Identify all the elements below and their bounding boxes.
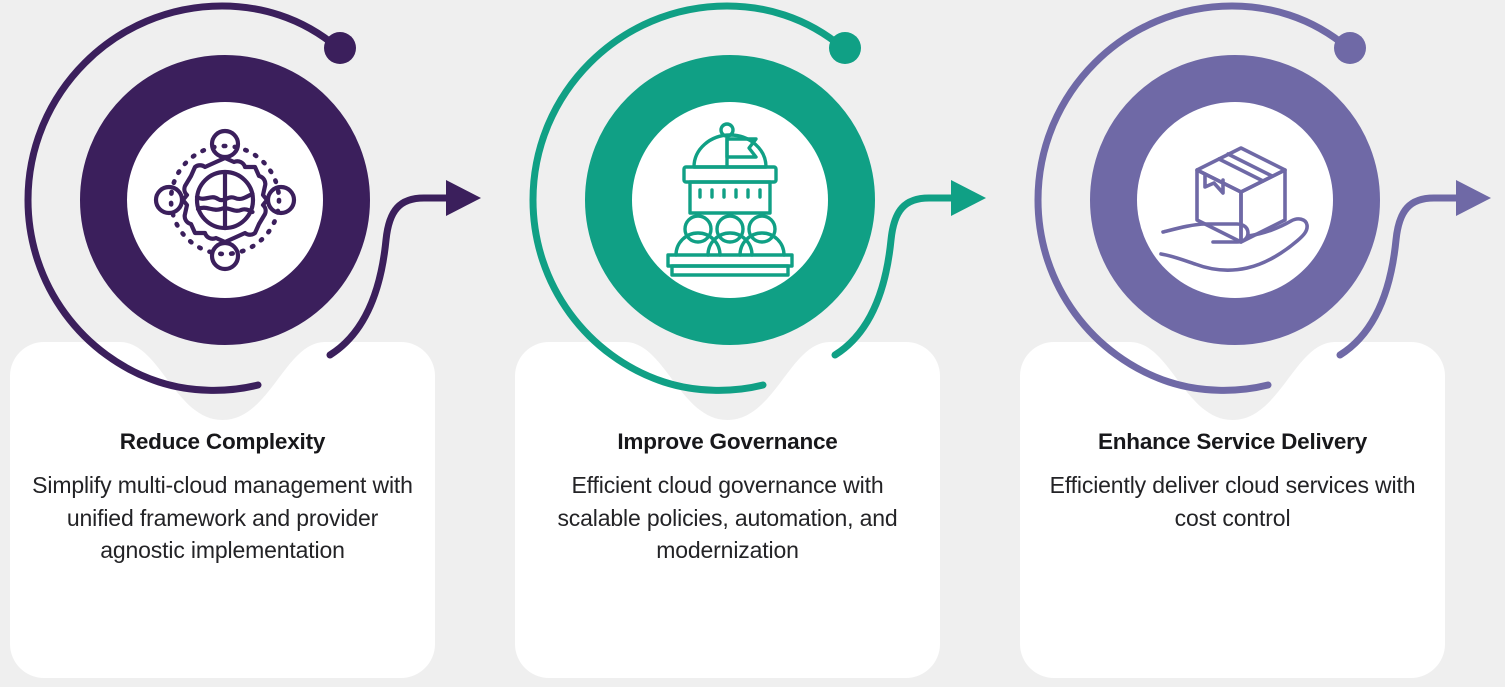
infographic-column-reduce-complexity: Reduce Complexity Simplify multi-cloud m… bbox=[0, 0, 505, 687]
icon-graphic-group bbox=[505, 0, 1010, 400]
card-content: Improve Governance Efficient cloud gover… bbox=[515, 342, 940, 678]
orbit-dot bbox=[829, 32, 861, 64]
icon-disc bbox=[632, 102, 828, 298]
card-description: Simplify multi-cloud management with uni… bbox=[24, 455, 421, 567]
arrow-head bbox=[446, 180, 481, 216]
government-building-people-icon bbox=[668, 124, 792, 275]
accent-ring bbox=[1114, 79, 1356, 321]
orbit-dot bbox=[324, 32, 356, 64]
card-title: Reduce Complexity bbox=[24, 342, 421, 455]
orbit-arc bbox=[533, 6, 843, 390]
infographic-canvas: Reduce Complexity Simplify multi-cloud m… bbox=[0, 0, 1505, 687]
flow-arrow bbox=[835, 198, 957, 355]
accent-ring bbox=[609, 79, 851, 321]
infographic-column-improve-governance: Improve Governance Efficient cloud gover… bbox=[505, 0, 1010, 687]
gear-globe-network-icon bbox=[156, 131, 294, 269]
infographic-column-enhance-service-delivery: Enhance Service Delivery Efficiently del… bbox=[1010, 0, 1505, 687]
card-description: Efficiently deliver cloud services with … bbox=[1034, 455, 1431, 534]
icon-disc bbox=[127, 102, 323, 298]
orbit-dot bbox=[1334, 32, 1366, 64]
orbit-arc bbox=[28, 6, 338, 390]
card-description: Efficient cloud governance with scalable… bbox=[529, 455, 926, 567]
icon-disc bbox=[1137, 102, 1333, 298]
card-content: Enhance Service Delivery Efficiently del… bbox=[1020, 342, 1445, 678]
icon-graphic-group bbox=[1010, 0, 1505, 400]
hand-holding-package-icon bbox=[1161, 148, 1307, 270]
orbit-arc bbox=[1038, 6, 1348, 390]
card-title: Improve Governance bbox=[529, 342, 926, 455]
card-title: Enhance Service Delivery bbox=[1034, 342, 1431, 455]
accent-ring bbox=[104, 79, 346, 321]
arrow-head bbox=[951, 180, 986, 216]
flow-arrow bbox=[1340, 198, 1462, 355]
flow-arrow bbox=[330, 198, 452, 355]
card-content: Reduce Complexity Simplify multi-cloud m… bbox=[10, 342, 435, 678]
arrow-head bbox=[1456, 180, 1491, 216]
icon-graphic-group bbox=[0, 0, 505, 400]
